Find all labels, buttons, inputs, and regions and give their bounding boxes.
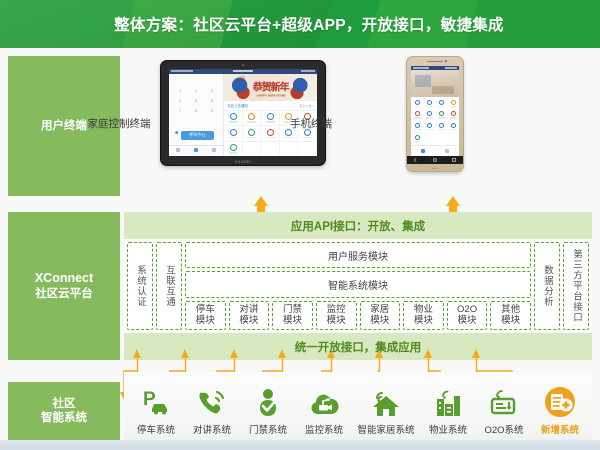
rail-system-line1: 社区 (53, 398, 76, 410)
app-tile[interactable] (411, 121, 423, 133)
module-interconnect-label: 互联互通 (164, 265, 174, 307)
system-label: 智能家居系统 (357, 422, 414, 436)
system-o2o[interactable]: O2O系统 (476, 386, 532, 436)
key[interactable]: 3 (205, 87, 219, 94)
home-icon[interactable] (433, 158, 437, 162)
header-banner: 整体方案：社区云平台+超级APP，开放接口，敏捷集成 (0, 0, 600, 48)
phone-app-grid[interactable] (411, 97, 459, 144)
module-label-line2: 模块 (501, 315, 520, 326)
surveillance-icon (307, 386, 341, 420)
phone-screen (411, 66, 459, 157)
property-icon (431, 386, 465, 420)
app-tile-empty (280, 142, 299, 156)
arrow-up-other (472, 349, 481, 358)
arrow-up-access (230, 349, 239, 358)
intercom-icon (195, 386, 229, 420)
key[interactable]: 1 (173, 87, 187, 94)
tablet-body: 1 2 3 4 5 6 7 8 9 呼叫中心 (169, 74, 317, 156)
module-intercom[interactable]: 对讲 模块 (229, 301, 270, 330)
module-label-line1: 门禁 (283, 304, 302, 315)
system-label: O2O系统 (484, 422, 523, 436)
module-label-line1: 其他 (501, 304, 520, 315)
rail-label-cloud-platform: XConnect 社区云平台 (8, 212, 120, 360)
system-access-control[interactable]: 门禁系统 (240, 386, 296, 436)
key[interactable]: 9 (205, 107, 219, 114)
tablet-brand-label: HUAWEI (235, 160, 251, 164)
tablet-screen: 1 2 3 4 5 6 7 8 9 呼叫中心 (169, 69, 317, 156)
system-intercom[interactable]: 对讲系统 (184, 386, 240, 436)
system-label: 门禁系统 (249, 422, 287, 436)
module-smart-home[interactable]: 家居 模块 (360, 301, 401, 330)
key[interactable]: 8 (189, 107, 203, 114)
system-label: 停车系统 (137, 422, 175, 436)
page-title: 整体方案：社区云平台+超级APP，开放接口，敏捷集成 (0, 0, 600, 48)
app-tile[interactable] (435, 121, 447, 133)
tab-icon[interactable] (169, 146, 187, 156)
back-icon[interactable] (414, 158, 419, 163)
module-user-services-label: 用户服务模块 (328, 248, 388, 263)
module-property[interactable]: 物业 模块 (403, 301, 444, 330)
module-user-services[interactable]: 用户服务模块 (185, 242, 531, 268)
systems-row: P 停车系统 对讲系统 (124, 386, 592, 446)
app-tile[interactable] (411, 109, 423, 121)
system-parking[interactable]: P 停车系统 (128, 386, 184, 436)
dial-keypad[interactable]: 1 2 3 4 5 6 7 8 9 (173, 87, 219, 114)
bottom-water-strip (0, 440, 600, 450)
api-band-label: 应用API接口：开放、集成 (291, 218, 425, 234)
app-tile[interactable] (447, 97, 459, 109)
app-tile[interactable] (224, 142, 243, 156)
add-system-icon (543, 386, 577, 420)
system-label: 监控系统 (305, 422, 343, 436)
module-parking[interactable]: 停车 模块 (185, 301, 226, 330)
notice-bar[interactable]: 社区公告通知 更多公告 > (224, 101, 317, 111)
module-system-auth-label: 系统认证 (135, 265, 145, 307)
module-data-analytics[interactable]: 数据分析 (534, 242, 560, 330)
app-tile-empty (447, 133, 459, 145)
app-tile[interactable] (447, 109, 459, 121)
module-smart-systems[interactable]: 智能系统模块 (185, 271, 531, 297)
module-surveillance[interactable]: 监控 模块 (316, 301, 357, 330)
module-label-line1: 物业 (414, 304, 433, 315)
app-tile-empty (298, 142, 317, 156)
tablet-device: 1 2 3 4 5 6 7 8 9 呼叫中心 (160, 60, 326, 166)
module-label-line1: 家居 (370, 304, 389, 315)
phone-nav-bar[interactable] (407, 156, 463, 164)
module-o2o[interactable]: O2O 模块 (447, 301, 488, 330)
call-button[interactable]: 呼叫中心 (181, 131, 214, 140)
system-add-new[interactable]: 新增系统 (532, 386, 588, 436)
open-interface-band: 统一开放接口，集成应用 (124, 333, 592, 360)
status-left-icons (171, 70, 193, 72)
system-label: 新增系统 (541, 422, 579, 436)
section-cloud-platform: 应用API接口：开放、集成 系统认证 互联互通 用户服务模块 智能系统模块 停车 (124, 212, 592, 360)
rail-platform-en: XConnect (35, 271, 93, 287)
key[interactable]: 6 (205, 97, 219, 104)
system-label: 物业系统 (429, 422, 467, 436)
phone-camera-icon (445, 60, 447, 62)
module-third-party-api[interactable]: 第三方平台接口 (563, 242, 589, 330)
system-surveillance[interactable]: 监控系统 (296, 386, 352, 436)
api-band: 应用API接口：开放、集成 (124, 212, 592, 239)
app-tile[interactable] (435, 109, 447, 121)
arrow-up-parking (133, 349, 142, 358)
slide-canvas: 整体方案：社区云平台+超级APP，开放接口，敏捷集成 用户终端 XConnect… (0, 0, 600, 450)
tablet-tab-bar[interactable] (169, 145, 223, 156)
key[interactable]: 5 (189, 97, 203, 104)
tablet-home-panel: 恭贺新年 HAPPY NEW YEAR 社区公告通知 更多公告 > (224, 74, 317, 156)
tablet-caption: 家庭控制终端 (39, 116, 199, 131)
tablet-dialer-panel: 1 2 3 4 5 6 7 8 9 呼叫中心 (169, 74, 224, 156)
arrow-up-o2o (424, 349, 433, 358)
module-access-control[interactable]: 门禁 模块 (272, 301, 313, 330)
phone-device: acer (406, 56, 464, 172)
platform-module-box: 系统认证 互联互通 用户服务模块 智能系统模块 停车 模块 (124, 239, 592, 333)
module-label-line2: 模块 (414, 315, 433, 326)
module-label-line1: 对讲 (239, 304, 258, 315)
module-label-line2: 模块 (196, 315, 215, 326)
smart-home-icon (369, 386, 403, 420)
tablet-camera-icon (242, 64, 244, 66)
module-label-line1: 监控 (327, 304, 346, 315)
app-tile[interactable] (411, 133, 423, 145)
tab-icon-active[interactable] (187, 146, 205, 156)
access-control-icon (251, 386, 285, 420)
new-year-banner[interactable]: 恭贺新年 HAPPY NEW YEAR (224, 74, 317, 101)
arrow-up-surveillance (278, 349, 287, 358)
module-label-line2: 模块 (370, 315, 389, 326)
arrow-up-intercom (181, 349, 190, 358)
rail-system-line2: 智能系统 (41, 412, 87, 424)
phone-hero-image (411, 70, 459, 97)
system-property[interactable]: 物业系统 (420, 386, 476, 436)
module-third-party-api-label: 第三方平台接口 (571, 249, 581, 323)
contact-icon[interactable] (172, 131, 181, 140)
module-smart-systems-label: 智能系统模块 (328, 277, 388, 292)
banner-main-text: 恭贺新年 (253, 82, 289, 93)
module-row-subsystems: 停车 模块 对讲 模块 门禁 模块 监控 模块 (185, 301, 531, 330)
app-tile-empty (435, 133, 447, 145)
rail-label-community-systems: 社区 智能系统 (8, 382, 120, 440)
app-tile-empty (423, 133, 435, 145)
app-tile[interactable] (423, 121, 435, 133)
banner-text: 恭贺新年 HAPPY NEW YEAR (253, 78, 289, 97)
key[interactable]: 4 (173, 97, 187, 104)
o2o-icon (487, 386, 521, 420)
tab-icon[interactable] (205, 146, 223, 156)
module-label-line2: 模块 (458, 315, 477, 326)
platform-center-stack: 用户服务模块 智能系统模块 停车 模块 对讲 模块 门禁 (185, 242, 531, 330)
recents-icon[interactable] (452, 158, 456, 162)
rail-platform-cn: 社区云平台 (35, 288, 93, 300)
module-label-line1: O2O (457, 304, 477, 315)
app-tile-empty (243, 142, 262, 156)
module-system-auth[interactable]: 系统认证 (127, 242, 153, 330)
app-tile[interactable] (411, 97, 423, 109)
module-other[interactable]: 其他 模块 (490, 301, 531, 330)
status-title (233, 70, 253, 72)
notice-title: 社区公告通知 (227, 103, 247, 108)
app-tile-empty (261, 142, 280, 156)
system-smart-home[interactable]: 智能家居系统 (352, 386, 420, 436)
module-label-line2: 模块 (327, 315, 346, 326)
key[interactable]: 7 (173, 107, 187, 114)
app-tile[interactable] (447, 121, 459, 133)
key[interactable]: 2 (189, 87, 203, 94)
phone-caption: 手机终端 (231, 116, 391, 131)
app-tile[interactable] (423, 109, 435, 121)
module-label-line1: 停车 (196, 304, 215, 315)
notice-more-link[interactable]: 更多公告 > (299, 104, 314, 108)
open-band-label: 统一开放接口，集成应用 (295, 339, 422, 355)
phone-speaker-icon (427, 61, 443, 63)
module-label-line2: 模块 (283, 315, 302, 326)
app-tile[interactable] (435, 97, 447, 109)
status-right-icons (301, 70, 315, 72)
module-interconnect[interactable]: 互联互通 (156, 242, 182, 330)
system-label: 对讲系统 (193, 422, 231, 436)
phone-brand-label: acer (432, 166, 438, 170)
banner-sub-text: HAPPY NEW YEAR (253, 93, 289, 97)
app-tile[interactable] (423, 97, 435, 109)
module-label-line2: 模块 (239, 315, 258, 326)
section-community-systems: P 停车系统 对讲系统 (124, 372, 592, 450)
module-data-analytics-label: 数据分析 (542, 265, 552, 307)
parking-icon: P (139, 386, 173, 420)
